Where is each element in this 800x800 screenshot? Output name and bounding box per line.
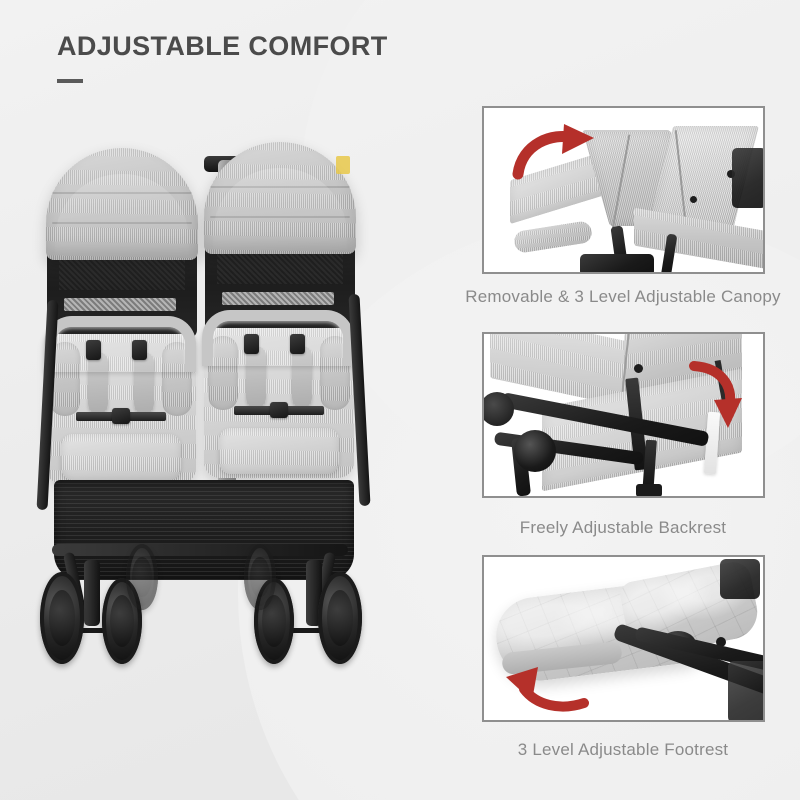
canopy-rib [210, 216, 350, 218]
canopy-rib [52, 222, 192, 224]
feature-panel-footrest [482, 555, 765, 722]
caption-backrest: Freely Adjustable Backrest [0, 518, 800, 538]
wheel-rear-right [244, 544, 276, 610]
frame-rear-block [732, 148, 765, 208]
wheel-hub [514, 430, 556, 472]
adjust-direction-arrow-icon [686, 360, 748, 436]
caption-backrest-text: Freely Adjustable Backrest [520, 518, 726, 538]
feature-panel-backrest [482, 332, 765, 498]
canopy-feature-image [484, 108, 763, 272]
canopy-snap-button [634, 364, 643, 373]
frame-cross-bar [52, 544, 348, 556]
backrest-feature-image [484, 334, 763, 496]
feature-panel-canopy [482, 106, 765, 274]
seat-cushion [61, 434, 181, 480]
wheel-front-left-outer [40, 572, 84, 664]
frame-joint [580, 254, 654, 274]
harness-center-buckle [270, 402, 288, 418]
caption-canopy: Removable & 3 Level Adjustable Canopy [0, 287, 800, 307]
canopy-snap-button [690, 196, 697, 203]
brand-tag [336, 156, 350, 174]
title-underline-rule [57, 79, 83, 83]
hero-product-image [18, 120, 438, 720]
canopy-left [46, 148, 198, 260]
adjust-direction-arrow-icon [512, 124, 598, 182]
stroller-illustration [18, 120, 438, 720]
bumper-bar-right [202, 310, 354, 366]
caption-footrest-text: 3 Level Adjustable Footrest [518, 740, 728, 760]
wheel-rear-left [126, 544, 158, 610]
wheel-fork [84, 560, 100, 626]
harness-center-buckle [112, 408, 130, 424]
rear-wheel-block [728, 661, 765, 722]
page-title: ADJUSTABLE COMFORT [57, 33, 388, 60]
infographic-page: ADJUSTABLE COMFORT [0, 0, 800, 800]
canopy-rib [210, 186, 350, 188]
strap-buckle [636, 484, 662, 497]
frame-joint [720, 559, 760, 599]
bumper-bar [513, 220, 593, 254]
wheel-front-right-outer [318, 572, 362, 664]
footrest-feature-image [484, 557, 763, 720]
adjust-direction-arrow-icon [498, 661, 592, 713]
canopy-rib [52, 192, 192, 194]
bumper-bar-left [44, 316, 196, 372]
wheel-hub-secondary [482, 392, 514, 426]
caption-canopy-text: Removable & 3 Level Adjustable Canopy [465, 287, 780, 307]
caption-footrest: 3 Level Adjustable Footrest [0, 740, 800, 760]
header: ADJUSTABLE COMFORT [57, 33, 388, 83]
seat-cushion [219, 428, 339, 474]
